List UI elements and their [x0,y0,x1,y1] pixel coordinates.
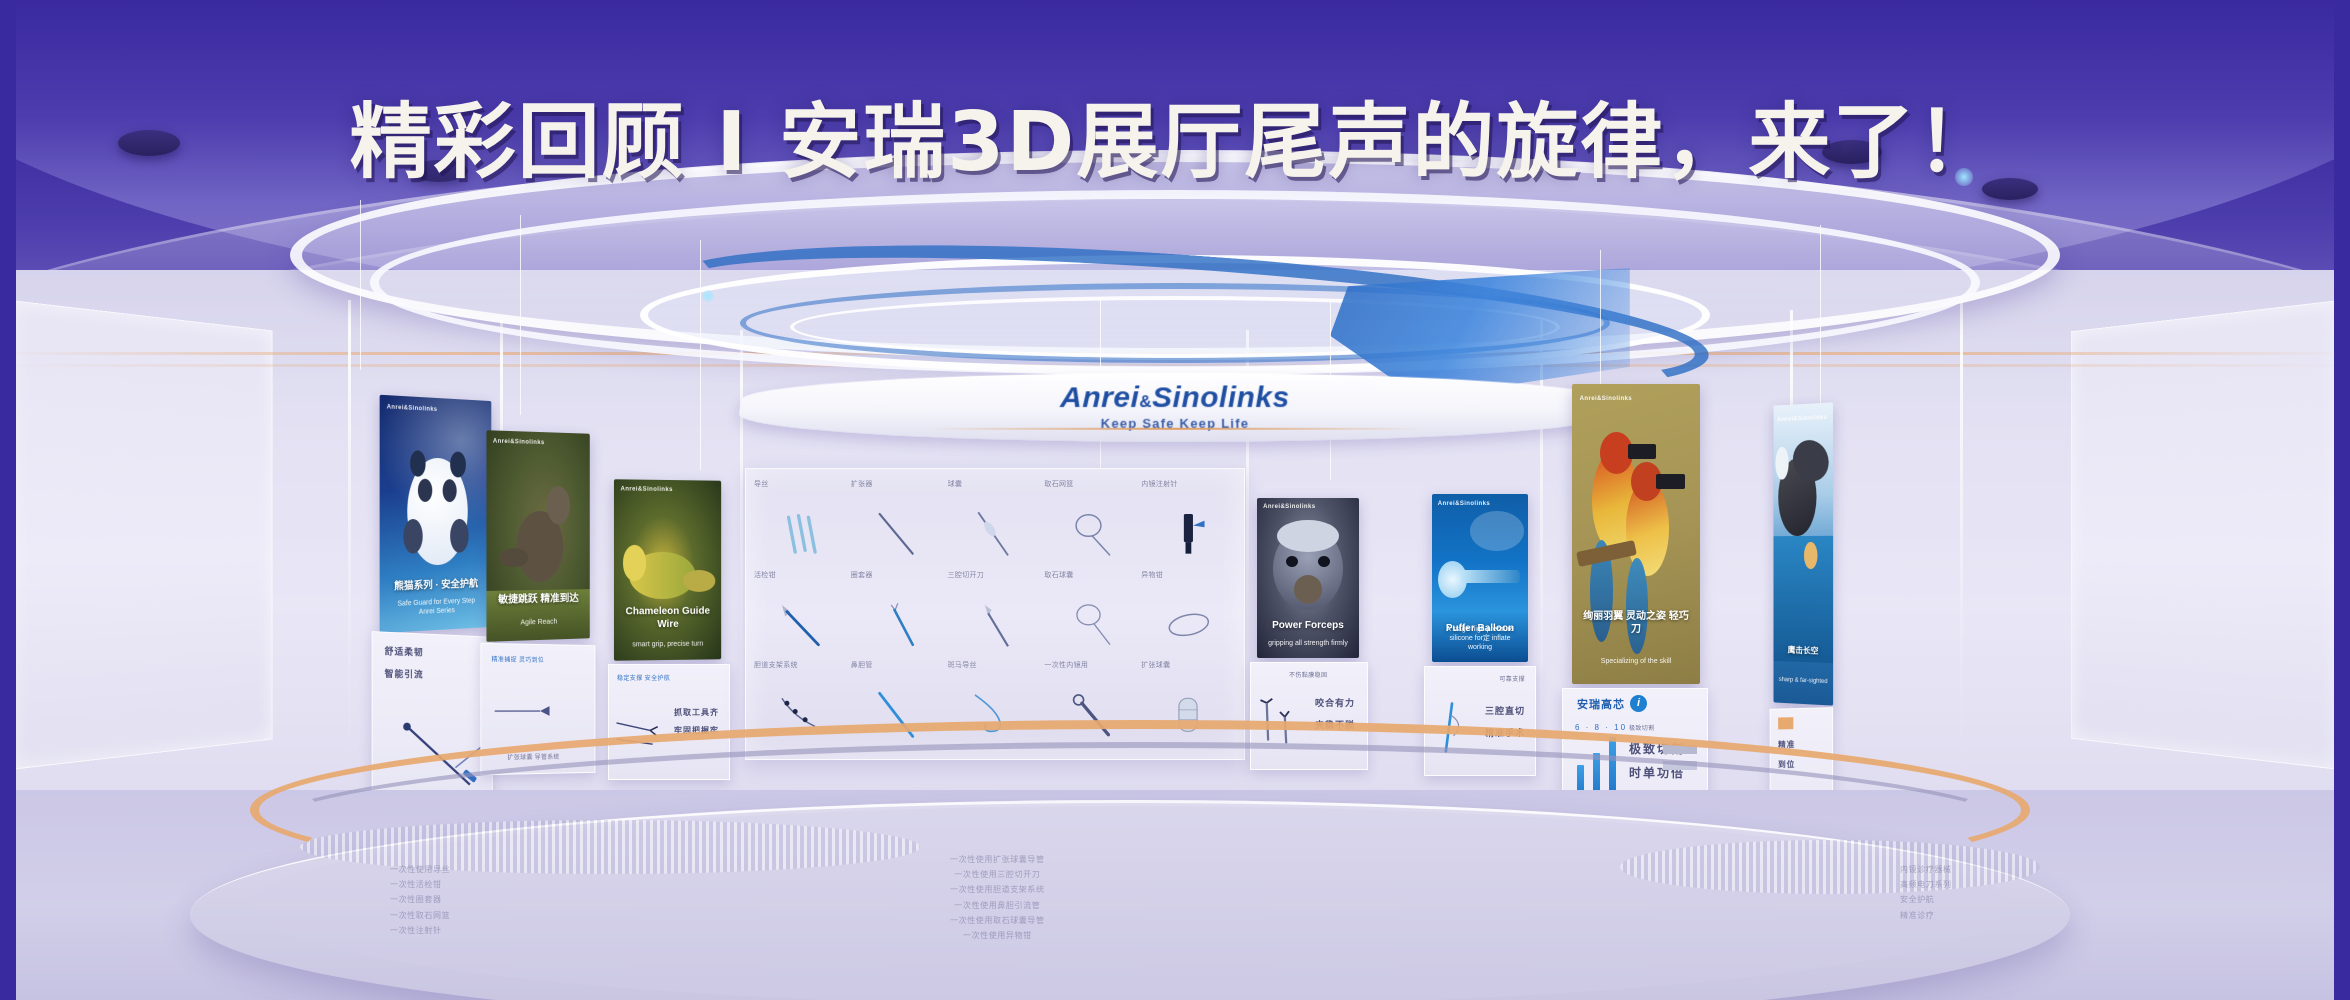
poster-kangaroo: Anrei&Sinolinks 敏捷跳跃 精准到达 Agile Reach [486,430,589,642]
panda-ear [450,452,465,478]
poster-title: 敏捷跳跃 精准到达 [493,593,584,607]
poster-panda: Anrei&Sinolinks 熊猫系列 · 安全护航 Safe Guard f… [380,395,492,634]
structural-post [1960,300,1963,770]
foreign-body-forceps-icon [1149,600,1229,650]
logo-primary: Anrei [1060,382,1140,414]
hanger-wire [1820,225,1821,415]
balloon-icon [955,509,1035,559]
chameleon-tail [683,570,715,592]
hanger-wire [700,240,701,470]
card-line-1: 咬合有力 [1315,697,1355,710]
chameleon-head [623,545,647,581]
product-label: 斑马导丝 [948,660,1043,670]
ceiling-glow [702,290,714,302]
poster-brand: Anrei&Sinolinks [1438,501,1490,507]
product-label: 三腔切开刀 [948,570,1043,580]
poster-subtitle: gripping all strength firmly [1265,639,1351,648]
poster-title: 鹰击长空 [1777,645,1829,657]
card-caption: 精准捕捉 灵巧到位 [491,654,544,664]
brand-cn-label: 安瑞高芯 [1577,696,1625,712]
floor-text-center: 一次性使用扩张球囊导管 一次性使用三腔切开刀 一次性使用胆道支架系统 一次性使用… [950,852,1045,943]
product-cell: 取石球囊 [1044,570,1139,659]
poster-eagle: Anrei&Sinolinks 鹰击长空 sharp & far-sighted [1774,402,1834,705]
poster-subtitle: smart grip, precise turn [623,640,713,650]
logo-ampersand: & [1139,392,1152,411]
bird-tail [1626,558,1648,654]
page-title: 精彩回顾 I 安瑞3D展厅尾声的旋律，来了！ [0,75,2350,194]
product-display-wall: 导丝 扩张器 球囊 取石网篮 内镜注射针 活检钳 圈套器 三腔切开刀 取石球囊 … [745,468,1245,760]
badger-crown [1277,520,1338,552]
exhibition-banner: Anrei&Sinolinks Keep Safe Keep Life Anre… [0,0,2350,1000]
card-line-1: 抓取工具齐 [674,707,719,718]
product-label: 一次性内镜用 [1044,660,1139,670]
injection-needle-icon [1149,509,1229,559]
poster-brand: Anrei&Sinolinks [1263,504,1315,510]
card-line-1: 舒适柔韧 [385,645,424,659]
bird-beak [1656,474,1684,489]
balloon-shaft [1461,570,1521,583]
sun-spot [1804,542,1817,569]
card-caption: 稳定支撑 安全护航 [617,673,670,682]
poster-title: Chameleon Guide Wire [620,606,714,632]
product-label: 扩张球囊 [1141,660,1236,670]
product-label: 活检钳 [754,570,849,580]
poster-chameleon: Anrei&Sinolinks Chameleon Guide Wire sma… [614,479,721,660]
poster-subtitle: A stage high pressure silicone for定 infl… [1440,625,1521,652]
card-line-1: 三腔直切 [1485,705,1525,718]
card-caption: 不伤黏膜稳固 [1289,670,1327,679]
right-wall-panel [2071,300,2340,770]
badger-eye [1286,556,1298,567]
product-label: 内镜注射针 [1141,479,1236,489]
snare-icon [858,600,938,650]
product-cell: 三腔切开刀 [948,570,1043,659]
poster-title: 绚丽羽翼 灵动之姿 轻巧刀 [1580,611,1693,636]
poster-honey-badger: Anrei&Sinolinks Power Forceps gripping a… [1257,498,1359,658]
product-label: 异物钳 [1141,570,1236,580]
right-purple-border [2334,0,2350,1000]
product-label: 圈套器 [851,570,946,580]
left-wall-panel [10,300,272,770]
product-label: 导丝 [754,479,849,489]
logo-secondary: Sinolinks [1152,382,1290,414]
basket-icon [1052,509,1132,559]
product-label: 扩张器 [851,479,946,489]
product-label: 球囊 [948,479,1043,489]
floor-text-left: 一次性使用导丝 一次性活检钳 一次性圈套器 一次性取石网篮 一次性注射针 [390,862,450,938]
product-cell: 内镜注射针 [1141,479,1236,568]
product-cell: 球囊 [948,479,1043,568]
poster-bee-eaters: Anrei&Sinolinks 绚丽羽翼 灵动之姿 轻巧刀 Specializi… [1572,384,1700,684]
panda-arm [403,519,422,554]
poster-subtitle: Specializing of the skill [1582,657,1690,666]
chart-metrics-label: 6 · 8 · 10 [1575,723,1627,732]
poster-brand: Anrei&Sinolinks [620,487,672,494]
product-label: 取石球囊 [1044,570,1139,580]
badger-snout [1294,575,1323,604]
card-caption: 极致切割 [1629,723,1655,732]
bird-beak [1628,444,1656,459]
product-cell: 异物钳 [1141,570,1236,659]
hanger-wire [360,200,361,370]
water-highlight [1470,511,1524,551]
product-cell: 取石网篮 [1044,479,1139,568]
poster-puffer-balloon: Anrei&Sinolinks Puffer Balloon A stage h… [1432,494,1528,662]
poster-title: Power Forceps [1263,620,1353,633]
structural-post [740,330,743,770]
info-icon: i [1630,695,1647,712]
card-caption: 可靠支撑 [1499,674,1525,683]
rail-shadow [255,742,2025,918]
structural-post [348,300,351,770]
left-purple-border [0,0,16,1000]
brand-logo-text: Anrei&Sinolinks [1060,384,1290,413]
product-cell: 扩张器 [851,479,946,568]
panda-ear [410,451,426,477]
needle-illustration [491,683,559,743]
card-line-2: 智能引流 [385,668,424,682]
logo-underline [930,428,1420,430]
guidewire-icon [762,509,842,559]
product-cell: 导丝 [754,479,849,568]
product-label: 鼻胆管 [851,660,946,670]
poster-brand: Anrei&Sinolinks [1580,396,1632,402]
stone-balloon-icon [1052,600,1132,650]
dilator-icon [858,509,938,559]
kangaroo-head [547,486,569,523]
product-cell: 圈套器 [851,570,946,659]
biopsy-forceps-icon [762,600,842,650]
swatch [1778,717,1793,729]
product-label: 取石网篮 [1044,479,1139,489]
floor-text-right: 内镜诊疗器械 高频电刀系列 安全护航 精准诊疗 [1900,862,1952,923]
product-cell: 活检钳 [754,570,849,659]
product-label: 胆道支架系统 [754,660,849,670]
sphincterotome-icon [955,600,1035,650]
hanger-wire [520,215,521,415]
brand-logo-band: Anrei&Sinolinks Keep Safe Keep Life [736,373,1615,442]
